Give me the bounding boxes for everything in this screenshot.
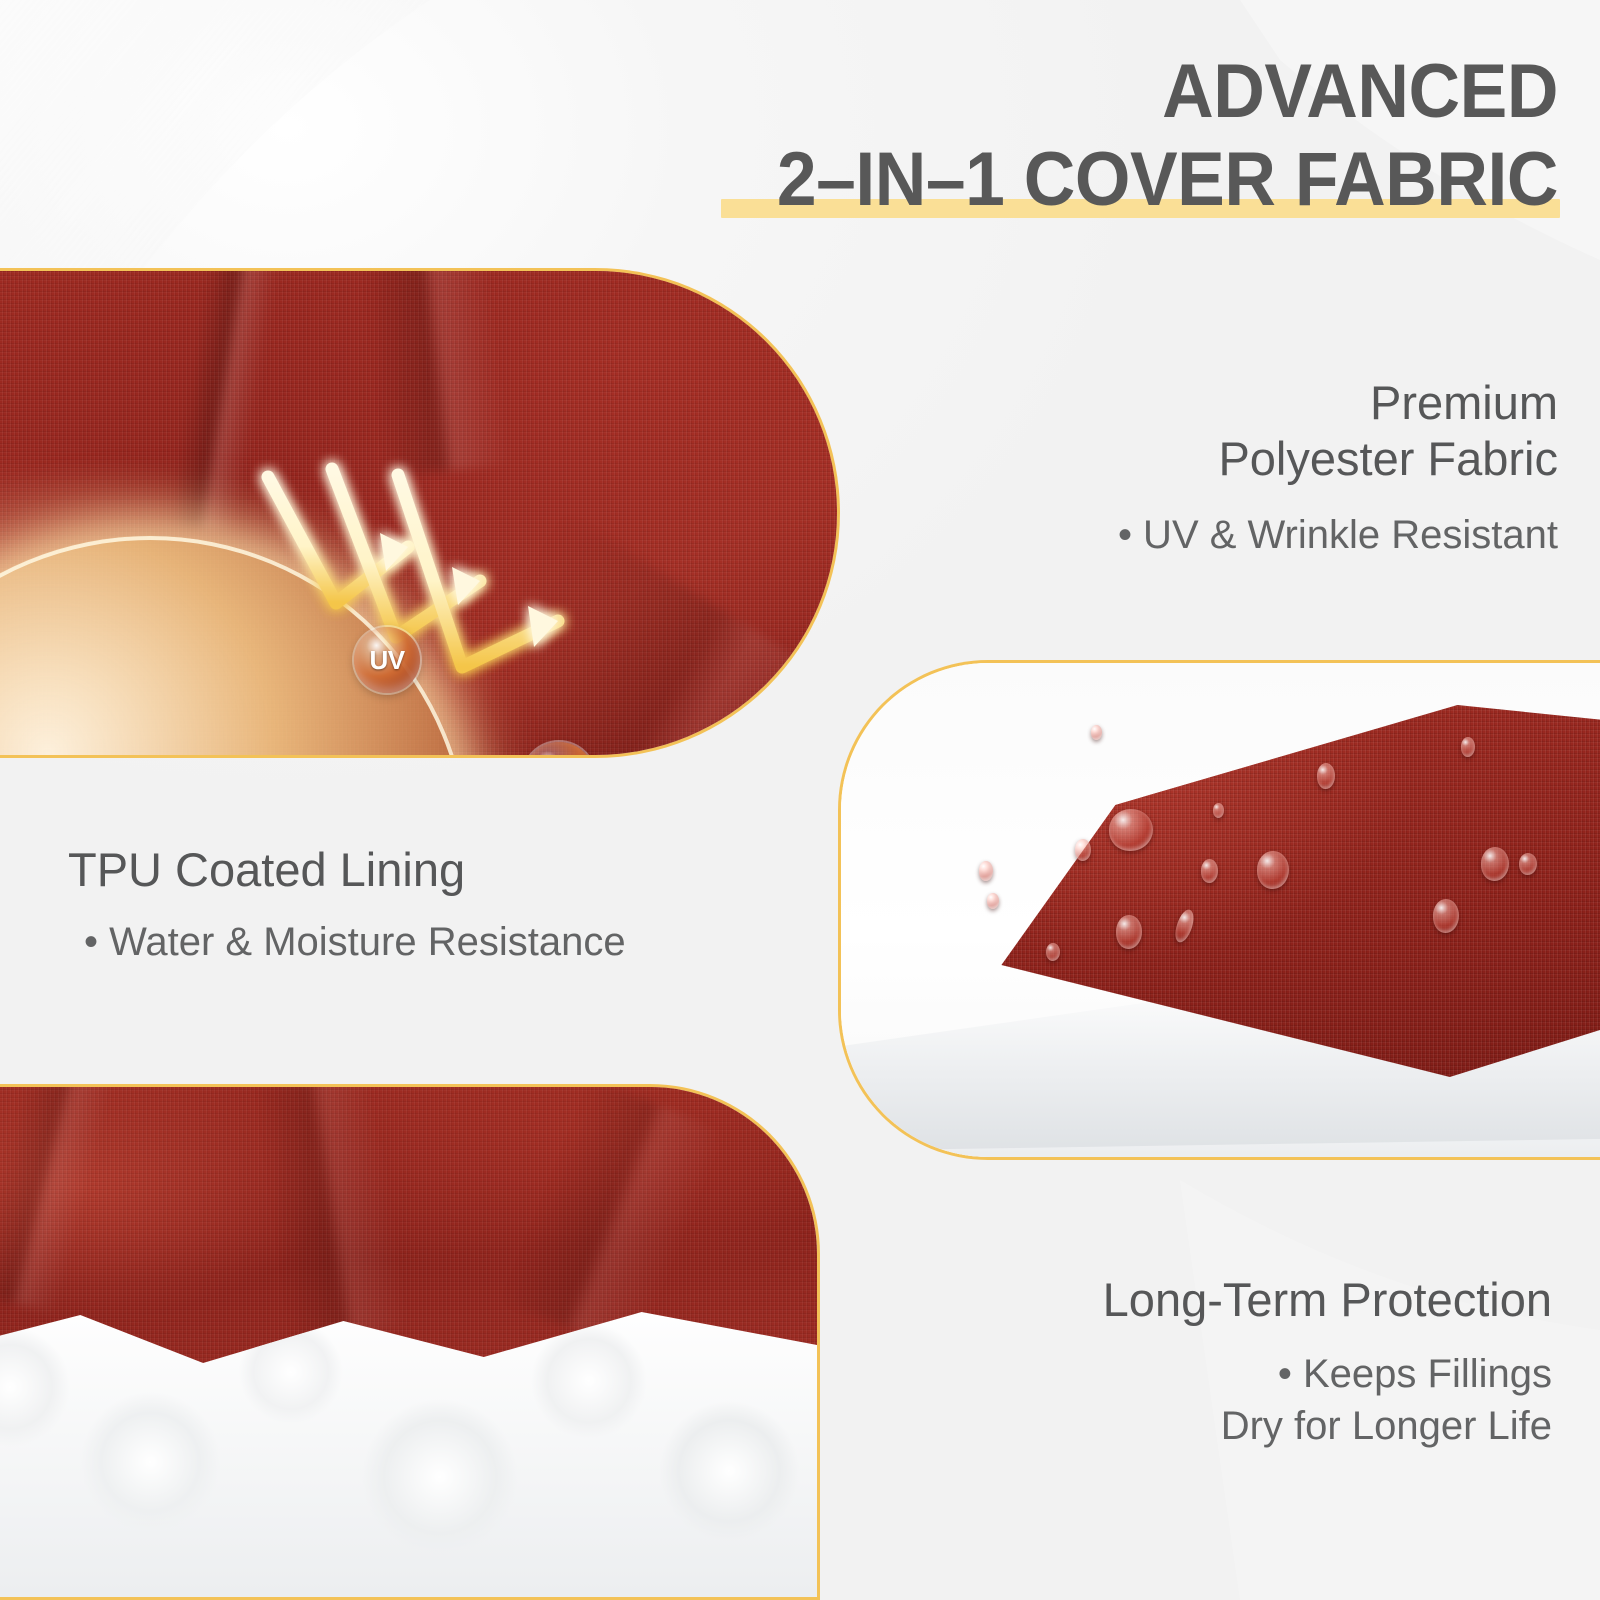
water-droplet [1201, 859, 1218, 883]
feature-text-tpu: TPU Coated Lining • Water & Moisture Res… [68, 842, 626, 968]
panel-water-resistance [838, 660, 1600, 1160]
water-droplet [1481, 847, 1509, 881]
feature-text-polyester: Premium Polyester Fabric • UV & Wrinkle … [1118, 375, 1558, 561]
water-droplet [1461, 737, 1475, 757]
white-polyester-filling [0, 1297, 817, 1597]
feature-title-longterm-line1: Long-Term Protection [1103, 1272, 1552, 1328]
water-droplet [987, 893, 999, 909]
feature-bullet-longterm-1: • Keeps Fillings [1103, 1348, 1552, 1400]
feature-bullet-tpu-1: • Water & Moisture Resistance [84, 916, 626, 968]
uv-badge-1: UV [354, 627, 420, 693]
headline-line-2-wrapper: 2–IN–1 COVER FABRIC [727, 140, 1558, 220]
feature-bullet-polyester-1: • UV & Wrinkle Resistant [1118, 509, 1558, 561]
water-droplet [1317, 763, 1335, 789]
feature-title-polyester-line2: Polyester Fabric [1118, 431, 1558, 487]
fabric-fold-crease [357, 268, 513, 477]
filling-protection-image [0, 1087, 817, 1600]
headline-line-1: ADVANCED [777, 52, 1558, 132]
water-droplet [1091, 725, 1102, 740]
water-droplet [1519, 853, 1537, 875]
feature-text-longterm: Long-Term Protection • Keeps Fillings Dr… [1103, 1272, 1552, 1452]
page-title: ADVANCED 2–IN–1 COVER FABRIC [727, 52, 1558, 220]
feature-title-polyester-line1: Premium [1118, 375, 1558, 431]
feature-bullet-longterm-2: Dry for Longer Life [1103, 1400, 1552, 1452]
headline-line-2: 2–IN–1 COVER FABRIC [777, 140, 1558, 220]
water-droplet [1046, 943, 1060, 961]
feature-title-tpu-line1: TPU Coated Lining [68, 842, 626, 898]
panel-filling-protection [0, 1084, 820, 1600]
infographic-canvas: ADVANCED 2–IN–1 COVER FABRIC [0, 0, 1600, 1600]
water-droplet [1257, 851, 1289, 889]
water-droplet [979, 861, 993, 881]
water-droplet [1213, 803, 1224, 818]
water-droplet [1109, 809, 1153, 851]
water-beading-image [841, 663, 1600, 1157]
uv-reflection-arrows [240, 451, 720, 758]
panel-uv-resistant-fabric: UV UV [0, 268, 840, 758]
water-droplet [1116, 915, 1142, 949]
uv-fabric-image: UV UV [0, 271, 837, 755]
water-droplet [1433, 899, 1459, 933]
water-droplet [1075, 839, 1091, 861]
